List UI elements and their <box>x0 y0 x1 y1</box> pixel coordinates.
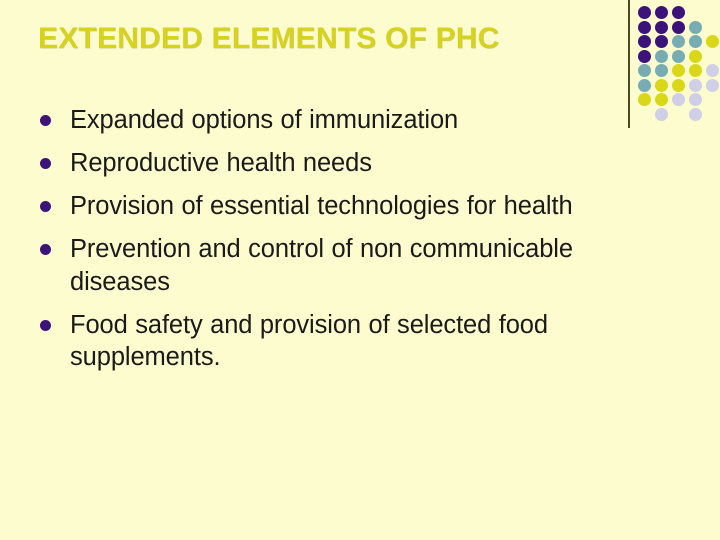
list-item: Provision of essential technologies for … <box>40 190 665 222</box>
decorative-dot-teal <box>638 79 651 92</box>
decorative-dot-lavender <box>706 64 719 77</box>
decorative-dot-purple <box>655 6 668 19</box>
decorative-dot-purple <box>672 6 685 19</box>
list-item-label: Provision of essential technologies for … <box>70 190 665 222</box>
list-item: Expanded options of immunization <box>40 104 665 136</box>
decorative-dot-yellow <box>655 79 668 92</box>
decorative-dot-teal <box>689 21 702 34</box>
decorative-dot-lavender <box>706 79 719 92</box>
bullet-point-icon <box>40 244 51 255</box>
page-title: EXTENDED ELEMENTS OF PHC <box>38 22 608 55</box>
list-item-label: Expanded options of immunization <box>70 104 665 136</box>
list-item: Reproductive health needs <box>40 147 665 179</box>
decorative-dot-teal <box>655 50 668 63</box>
decorative-dot-purple <box>655 21 668 34</box>
bullet-point-icon <box>40 158 51 169</box>
list-item: Food safety and provision of selected fo… <box>40 309 665 373</box>
decorative-dot-yellow <box>689 64 702 77</box>
bullet-point-icon <box>40 115 51 126</box>
decorative-dot-yellow <box>689 50 702 63</box>
decorative-dot-teal <box>672 50 685 63</box>
decorative-dot-lavender <box>672 93 685 106</box>
decorative-dot-purple <box>655 35 668 48</box>
decorative-dot-yellow <box>672 64 685 77</box>
list-item-label: Reproductive health needs <box>70 147 665 179</box>
decorative-dot-teal <box>638 64 651 77</box>
bullet-point-icon <box>40 201 51 212</box>
decorative-dot-teal <box>655 64 668 77</box>
decorative-dot-lavender <box>689 93 702 106</box>
decorative-dot-purple <box>638 21 651 34</box>
decorative-dot-yellow <box>706 35 719 48</box>
list-item-label: Food safety and provision of selected fo… <box>70 309 665 373</box>
bullet-list: Expanded options of immunizationReproduc… <box>40 104 665 384</box>
decorative-dot-purple <box>638 50 651 63</box>
list-item-label: Prevention and control of non communicab… <box>70 233 665 297</box>
decorative-dot-purple <box>638 6 651 19</box>
decorative-dot-teal <box>672 35 685 48</box>
decorative-dot-lavender <box>689 108 702 121</box>
list-item: Prevention and control of non communicab… <box>40 233 665 297</box>
decorative-dot-teal <box>689 35 702 48</box>
bullet-point-icon <box>40 320 51 331</box>
decorative-dot-yellow <box>672 79 685 92</box>
decorative-dot-lavender <box>689 79 702 92</box>
decorative-dot-purple <box>638 35 651 48</box>
decorative-dot-purple <box>672 21 685 34</box>
slide-canvas: EXTENDED ELEMENTS OF PHC Expanded option… <box>0 0 720 540</box>
